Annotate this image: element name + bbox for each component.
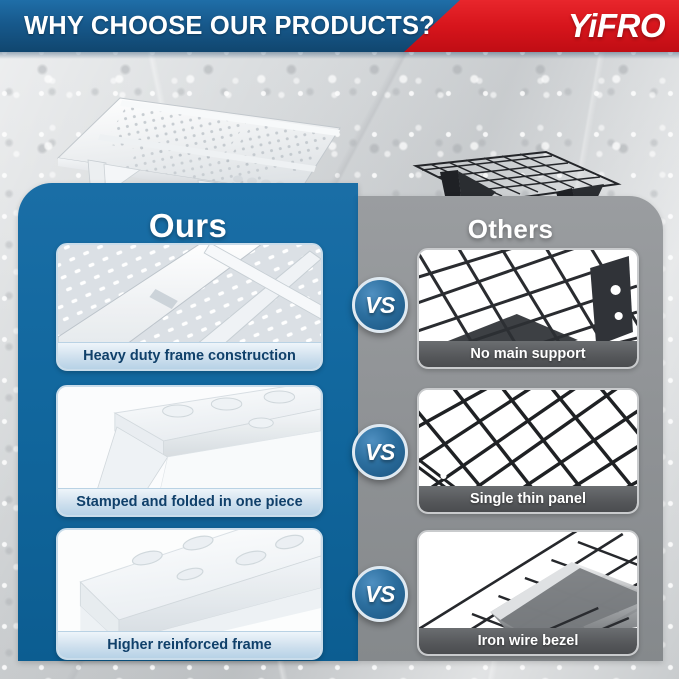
caption-others-3: Iron wire bezel: [419, 628, 637, 654]
vs-label-2: VS: [365, 439, 395, 466]
vs-label-1: VS: [365, 292, 395, 319]
panel-title-ours: Ours: [18, 207, 358, 245]
infographic-canvas: WHY CHOOSE OUR PRODUCTS? YiFRO: [0, 0, 679, 679]
card-others-2: Single thin panel: [417, 388, 639, 514]
caption-others-2: Single thin panel: [419, 486, 637, 512]
caption-others-1: No main support: [419, 341, 637, 367]
caption-ours-1: Heavy duty frame construction: [58, 342, 321, 369]
vs-label-3: VS: [365, 581, 395, 608]
panel-title-others: Others: [358, 214, 663, 245]
card-ours-2: Stamped and folded in one piece: [56, 385, 323, 517]
page-title: WHY CHOOSE OUR PRODUCTS?: [24, 0, 435, 52]
caption-ours-2: Stamped and folded in one piece: [58, 488, 321, 515]
caption-ours-3: Higher reinforced frame: [58, 631, 321, 658]
vs-badge-2: VS: [352, 424, 408, 480]
card-others-1: No main support: [417, 248, 639, 369]
header-shadow: [0, 52, 679, 59]
card-others-3: Iron wire bezel: [417, 530, 639, 656]
header-banner: WHY CHOOSE OUR PRODUCTS? YiFRO: [0, 0, 679, 52]
brand-logo: YiFRO: [568, 0, 665, 52]
vs-badge-3: VS: [352, 566, 408, 622]
vs-badge-1: VS: [352, 277, 408, 333]
card-ours-1: Heavy duty frame construction: [56, 243, 323, 371]
card-ours-3: Higher reinforced frame: [56, 528, 323, 660]
